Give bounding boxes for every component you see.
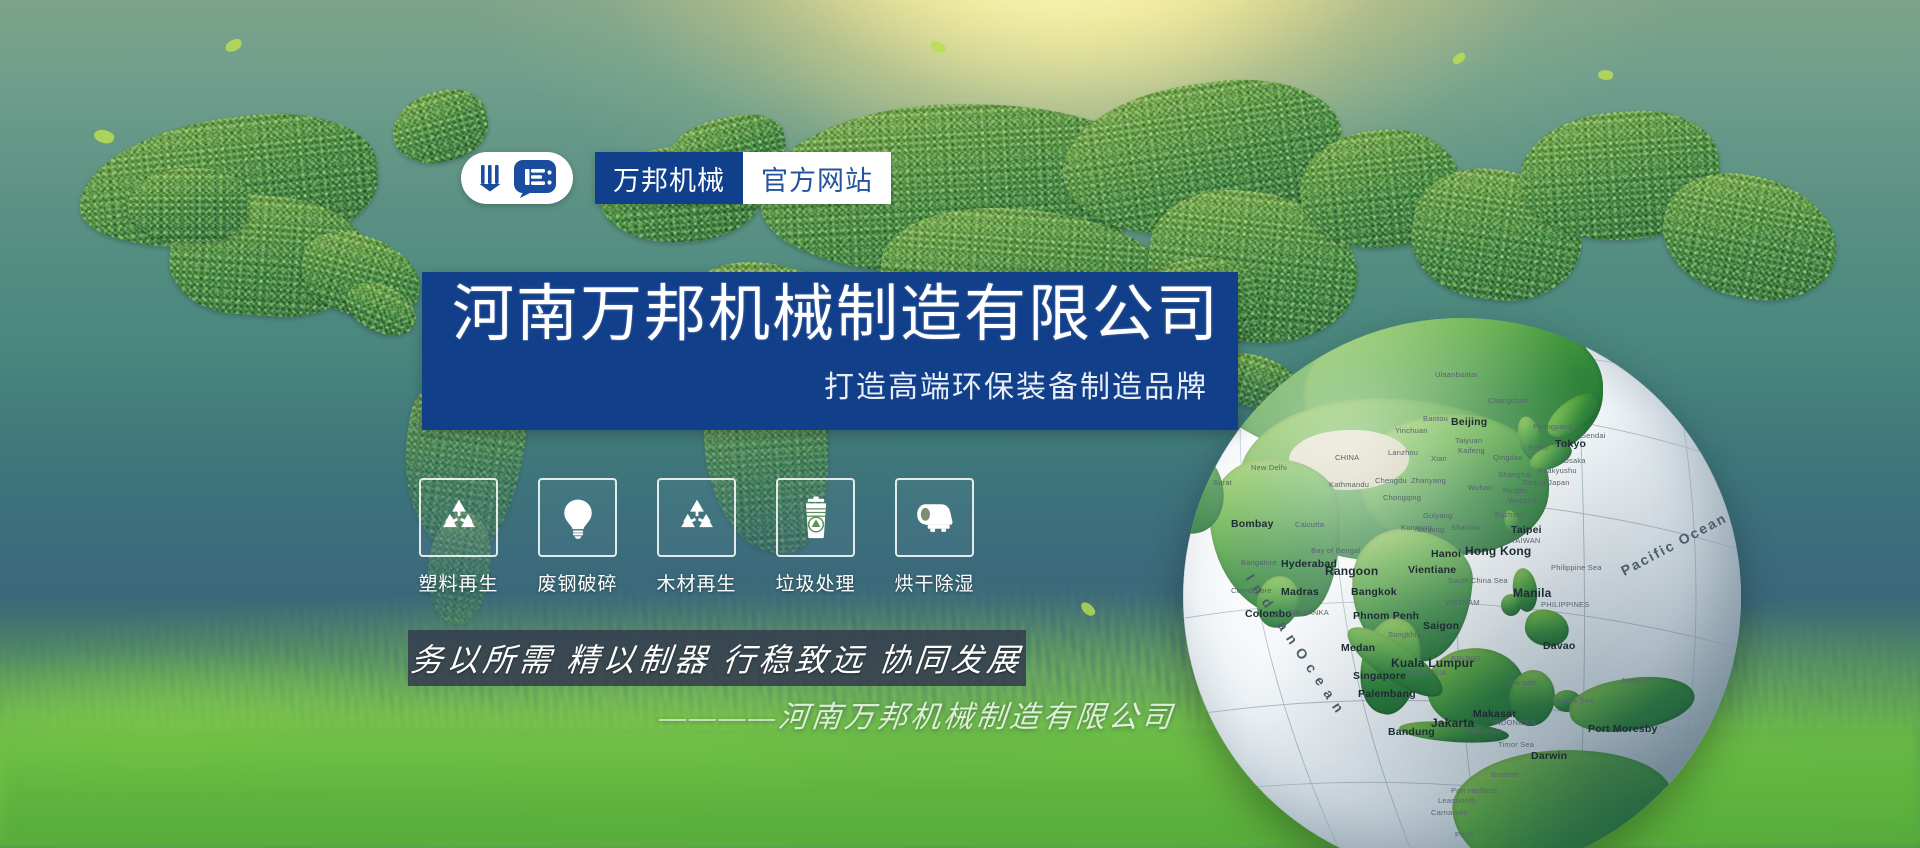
globe-city-label: Bangkok bbox=[1351, 586, 1397, 598]
service-item-scrap-steel-crushing[interactable]: 废钢破碎 bbox=[540, 478, 615, 596]
globe-city-label: Yinchuan bbox=[1395, 426, 1428, 435]
globe-city-label: Palembang bbox=[1358, 688, 1416, 700]
globe-city-label: Chengdu bbox=[1375, 476, 1407, 485]
globe-city-label: Perth bbox=[1455, 830, 1474, 839]
service-label: 垃圾处理 bbox=[776, 569, 856, 596]
service-icon-box bbox=[657, 478, 736, 557]
globe-city-label: Davao bbox=[1543, 640, 1576, 652]
globe-city-label: Carnarvon bbox=[1431, 808, 1468, 817]
service-icon-row: 塑料再生 废钢破碎 bbox=[421, 478, 972, 596]
globe-city-label: Chongqing bbox=[1383, 493, 1421, 502]
globe-city-label: Bombay bbox=[1231, 518, 1274, 530]
globe-city-label: Saigon bbox=[1423, 620, 1459, 632]
globe-city-label: Philippine Sea bbox=[1551, 563, 1602, 572]
logo-b-icon bbox=[513, 158, 557, 198]
service-item-plastic-recycling[interactable]: 塑料再生 bbox=[421, 478, 496, 596]
globe-city-label: Kunming bbox=[1401, 523, 1432, 532]
globe-city-label: Xian bbox=[1431, 454, 1447, 463]
globe-city-label: Jayapura bbox=[1621, 676, 1653, 685]
globe-city-label: New Delhi bbox=[1251, 463, 1287, 472]
wanbang-logo[interactable] bbox=[461, 152, 573, 204]
service-item-drying-dehumidifying[interactable]: 烘干除湿 bbox=[897, 478, 972, 596]
tab-official-site[interactable]: 官方网站 bbox=[743, 152, 891, 204]
globe-city-label: Bay of Bengal bbox=[1311, 546, 1360, 555]
globe-city-label: Manado bbox=[1508, 678, 1536, 687]
service-label: 塑料再生 bbox=[419, 569, 499, 596]
trash-bin-icon bbox=[794, 496, 838, 540]
globe-city-label: Wenzhou bbox=[1508, 496, 1541, 505]
globe-city-label: Pyongyang bbox=[1533, 422, 1572, 431]
recycle-icon bbox=[437, 496, 481, 540]
page-title: 河南万邦机械制造有限公司 bbox=[452, 284, 1220, 346]
globe-city-label: Wuhan bbox=[1468, 483, 1493, 492]
service-icon-box bbox=[538, 478, 617, 557]
dryer-icon bbox=[913, 496, 957, 540]
tab-company[interactable]: 万邦机械 bbox=[595, 152, 743, 204]
service-icon-box bbox=[419, 478, 498, 557]
hero-banner: UlaanbaatarBeijingSeoulTokyoPyongyangSen… bbox=[0, 0, 1920, 848]
recycle-icon bbox=[675, 496, 719, 540]
globe-city-label: Zhanyang bbox=[1411, 476, 1446, 485]
globe-city-label: Beijing bbox=[1451, 416, 1487, 428]
globe-city-label: Phnom Penh bbox=[1353, 610, 1419, 622]
slogan-banner: 务以所需 精以制器 行稳致远 协同发展 bbox=[408, 630, 1026, 686]
globe-city-label: MALAYSIA bbox=[1408, 668, 1447, 677]
globe-city-label: Manila bbox=[1513, 586, 1552, 600]
lightbulb-icon bbox=[556, 496, 600, 540]
globe-city-label: Ningbo bbox=[1503, 486, 1528, 495]
globe-city-label: Calcutta bbox=[1295, 520, 1324, 529]
globe-city-label: Port Hedland bbox=[1451, 786, 1497, 795]
globe-city-label: Bangalore bbox=[1241, 558, 1277, 567]
page-subtitle: 打造高端环保装备制造品牌 bbox=[824, 362, 1208, 406]
globe-city-label: Broome bbox=[1491, 770, 1518, 779]
globe-city-label: Baotou bbox=[1423, 414, 1448, 423]
globe-city-label: Arafura Sea bbox=[1551, 696, 1593, 705]
slogan-text: 务以所需 精以制器 行稳致远 协同发展 bbox=[409, 635, 1026, 681]
globe-city-label: Kaifeng bbox=[1458, 446, 1485, 455]
globe-city-label: Madras bbox=[1281, 586, 1319, 598]
service-item-waste-treatment[interactable]: 垃圾处理 bbox=[778, 478, 853, 596]
globe-city-label: Shantou bbox=[1451, 523, 1480, 532]
hero-title-panel: 河南万邦机械制造有限公司 打造高端环保装备制造品牌 bbox=[422, 272, 1238, 430]
globe-city-label: Ulaanbaatar bbox=[1435, 370, 1478, 379]
service-label: 废钢破碎 bbox=[538, 569, 618, 596]
globe-city-label: Qingdao bbox=[1493, 453, 1523, 462]
site-header: 万邦机械 官方网站 bbox=[461, 152, 891, 204]
globe-city-label: Surat bbox=[1213, 478, 1232, 487]
globe-city-label: Vientiane bbox=[1408, 564, 1456, 576]
globe-city-label: Medan bbox=[1341, 642, 1375, 654]
globe-city-label: Singapore bbox=[1353, 670, 1406, 682]
service-label: 烘干除湿 bbox=[895, 569, 975, 596]
globe-city-label: Rangoon bbox=[1325, 564, 1378, 578]
globe-city-label: Sendai bbox=[1581, 431, 1606, 440]
globe-city-label: Taiyuan bbox=[1455, 436, 1482, 445]
logo-w-icon bbox=[478, 163, 510, 193]
globe-city-label: Seoul bbox=[1528, 443, 1548, 452]
service-label: 木材再生 bbox=[657, 569, 737, 596]
globe-city-label: SRI LANKA bbox=[1288, 608, 1329, 617]
globe-city-label: Songkhla bbox=[1388, 630, 1421, 639]
globe-city-label: Sea of Japan bbox=[1523, 478, 1570, 487]
service-icon-box bbox=[895, 478, 974, 557]
globe-city-label: INDONESIA bbox=[1493, 718, 1536, 727]
globe-city-label: Kitakyushu bbox=[1538, 466, 1577, 475]
globe-city-label: Learmonth bbox=[1438, 796, 1476, 805]
globe-city-label: Hanoi bbox=[1431, 548, 1461, 560]
globe-city-label: Fuzhou bbox=[1495, 510, 1521, 519]
nav-tabs: 万邦机械 官方网站 bbox=[595, 152, 891, 204]
globe-city-label: Timor Sea bbox=[1498, 740, 1534, 749]
globe-city-label: Lanzhou bbox=[1388, 448, 1418, 457]
globe-city-label: Bandung bbox=[1388, 726, 1435, 738]
globe-city-label: Port Moresby bbox=[1588, 723, 1658, 735]
service-item-wood-recycling[interactable]: 木材再生 bbox=[659, 478, 734, 596]
globe-city-label: Darwin bbox=[1531, 750, 1567, 762]
globe-city-label: Hong Kong bbox=[1465, 544, 1531, 558]
globe-city-label: Guiyang bbox=[1423, 511, 1452, 520]
service-icon-box bbox=[776, 478, 855, 557]
globe-city-label: Osaka bbox=[1563, 456, 1586, 465]
globe-city-label: Taipei bbox=[1511, 524, 1542, 536]
slogan-attribution: ————河南万邦机械制造有限公司 bbox=[658, 692, 1177, 736]
globe-city-label: PHILIPPINES bbox=[1541, 600, 1589, 609]
globe-city-label: Surabaya bbox=[1468, 726, 1502, 735]
globe-city-label: VIETNAM bbox=[1445, 598, 1480, 607]
globe-city-label: Kathmandu bbox=[1329, 480, 1369, 489]
globe: UlaanbaatarBeijingSeoulTokyoPyongyangSen… bbox=[1183, 318, 1741, 848]
globe-city-label: CHINA bbox=[1335, 453, 1359, 462]
globe-city-label: BRUNEI bbox=[1451, 654, 1481, 663]
globe-city-label: South China Sea bbox=[1448, 576, 1508, 585]
globe-city-label: Changchun bbox=[1488, 396, 1528, 405]
